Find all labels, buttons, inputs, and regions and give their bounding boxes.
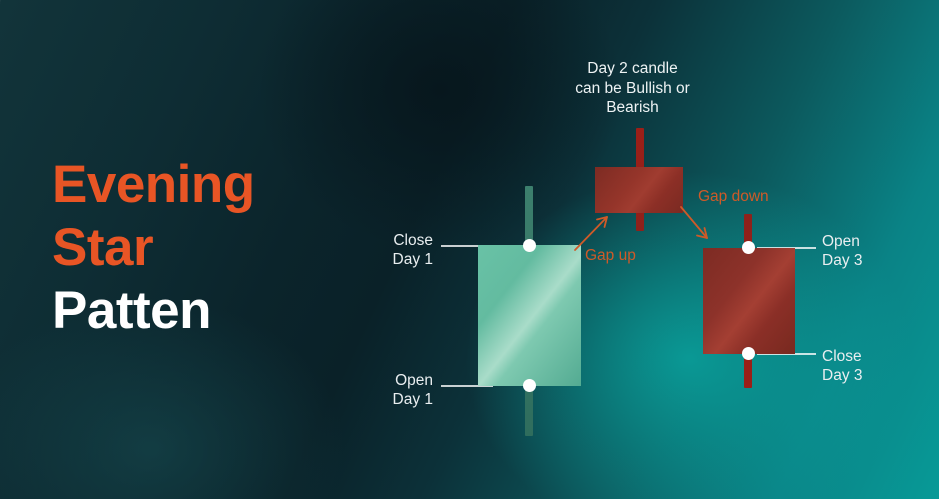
- label-open-day3: Open Day 3: [822, 232, 863, 270]
- label-open-day3-line-2: Day 3: [822, 251, 863, 270]
- day2-note-line-1: Day 2 candle: [545, 59, 720, 79]
- label-open-day1: Open Day 1: [337, 371, 433, 409]
- label-open-day3-line-1: Open: [822, 232, 863, 251]
- label-close-day1: Close Day 1: [337, 231, 433, 269]
- gap-down-label: Gap down: [698, 188, 769, 206]
- infographic-canvas: Evening Star Patten Day 2 candle can be …: [0, 0, 939, 499]
- label-close-day3: Close Day 3: [822, 347, 863, 385]
- candle-day3-open-dot: [742, 241, 755, 254]
- day2-note: Day 2 candle can be Bullish or Bearish: [545, 59, 720, 118]
- label-close-day1-line-1: Close: [337, 231, 433, 250]
- label-close-day3-line-1: Close: [822, 347, 863, 366]
- candle-day2-body[interactable]: [595, 167, 683, 213]
- label-open-day1-line-2: Day 1: [337, 390, 433, 409]
- candle-day3-body[interactable]: [703, 248, 795, 354]
- day2-note-line-2: can be Bullish or: [545, 79, 720, 99]
- title-line-1: Evening: [52, 153, 392, 216]
- candle-day3-close-dot: [742, 347, 755, 360]
- day2-note-line-3: Bearish: [545, 98, 720, 118]
- gap-up-label: Gap up: [585, 247, 636, 265]
- candle-day1-body[interactable]: [478, 245, 581, 386]
- label-open-day1-line-1: Open: [337, 371, 433, 390]
- title-line-3: Patten: [52, 279, 392, 342]
- candle-day1-open-dot: [523, 379, 536, 392]
- label-close-day3-line-2: Day 3: [822, 366, 863, 385]
- candle-day1-close-dot: [523, 239, 536, 252]
- label-close-day1-line-2: Day 1: [337, 250, 433, 269]
